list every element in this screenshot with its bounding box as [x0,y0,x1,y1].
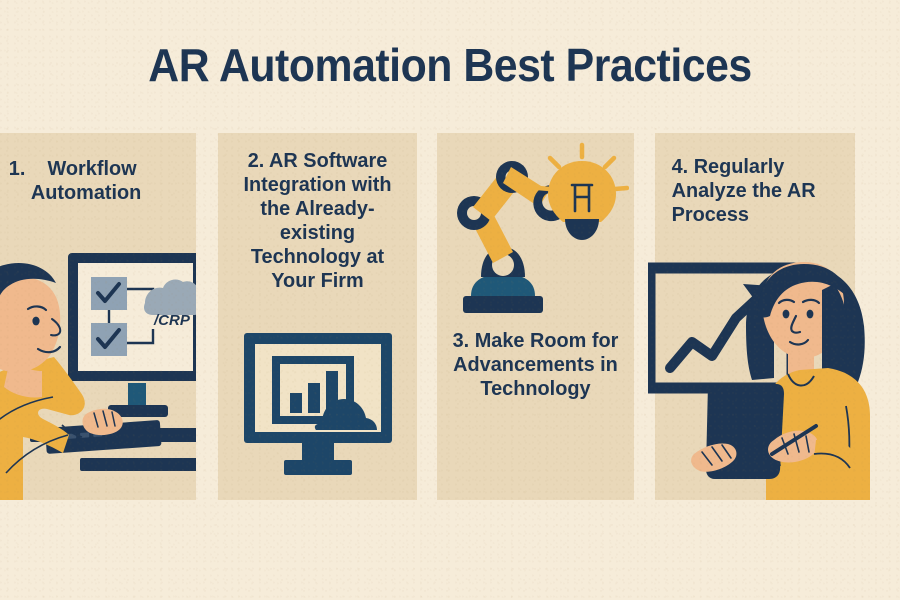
panel-1-line1: Workflow [47,157,136,180]
panel-ar-software-integration: 2. AR Software Integration with the Alre… [218,133,417,500]
panel-3-clip [437,133,634,500]
illustration-monitor-bar-chart-cloud [242,331,394,481]
panel-workflow-automation: /CRP [0,133,196,500]
panel-make-room-advancements: 3. Make Room for Advancements in Technol… [437,133,634,500]
panel-1-heading: 1. Workflow Automation [3,157,193,205]
screen-cloud-label: /CRP [153,312,191,329]
illustration-man-at-computer: /CRP [0,173,196,500]
panel-3-heading: 3. Make Room for Advancements in Technol… [440,329,631,401]
panel-2-heading: 2. AR Software Integration with the Alre… [221,149,414,293]
panel-1-line2: Automation [31,181,141,204]
illustration-robot-arm-lightbulb [449,141,629,331]
panel-4-heading: 4. Regularly Analyze the AR Process [658,155,852,227]
page-title: AR Automation Best Practices [32,38,869,92]
panel-1-number: 1. [9,157,26,180]
illustration-woman-with-tablet [648,258,900,500]
